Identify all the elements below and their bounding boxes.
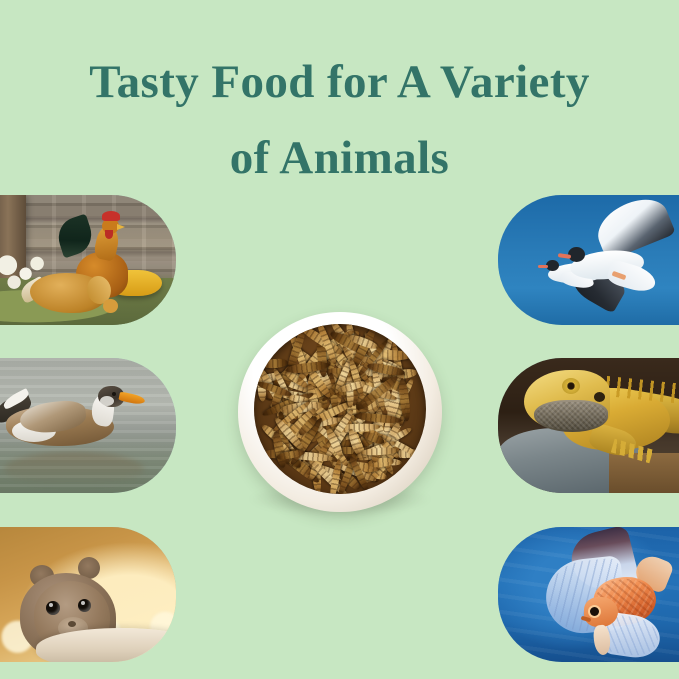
betta-fish-photo (498, 527, 679, 662)
betta-fish (542, 533, 672, 659)
hamster-eye-left (46, 601, 60, 615)
hen-head (103, 299, 118, 313)
bearded-dragon-photo (498, 358, 679, 493)
seagulls-photo (498, 195, 679, 325)
tile-seagulls (498, 195, 679, 325)
dragon-pupil-right (568, 383, 574, 389)
tile-bearded-dragon (498, 358, 679, 493)
fish-eye (590, 607, 599, 616)
product-poster: Tasty Food for A Variety of Animals (0, 0, 679, 679)
bearded-dragon (516, 366, 679, 486)
rooster-beak (117, 224, 125, 230)
tile-betta-fish (498, 527, 679, 662)
rooster-comb (102, 211, 120, 221)
seagull-large-beak (558, 253, 571, 259)
hamster-photo (0, 527, 176, 662)
mealworm (262, 358, 289, 369)
duck-photo (0, 358, 176, 493)
dried-mealworms (254, 324, 426, 494)
hamster-eye-left-glint (49, 603, 53, 607)
chickens-photo (0, 195, 176, 325)
duck-reflection (4, 452, 144, 486)
dragon-beard-texture (536, 402, 606, 430)
duck-bill (118, 391, 145, 405)
tile-duck (0, 358, 176, 493)
duck (6, 384, 148, 456)
tile-chickens (0, 195, 176, 325)
duck-cheek (100, 396, 114, 406)
bowl-interior (254, 324, 426, 494)
hamster-nose (68, 621, 76, 627)
dragon-eye-left (594, 392, 605, 402)
mealworm-bowl (238, 312, 442, 518)
duck-eye (112, 392, 116, 396)
seagull-small-beak (538, 265, 548, 268)
page-title: Tasty Food for A Variety of Animals (0, 44, 679, 196)
seagull-large (556, 207, 666, 307)
tile-hamster (0, 527, 176, 662)
rooster-wattle (105, 230, 113, 239)
seagull-large-lower-wing (606, 259, 659, 295)
hen (30, 257, 114, 319)
hamster-eye-right-glint (81, 601, 85, 605)
